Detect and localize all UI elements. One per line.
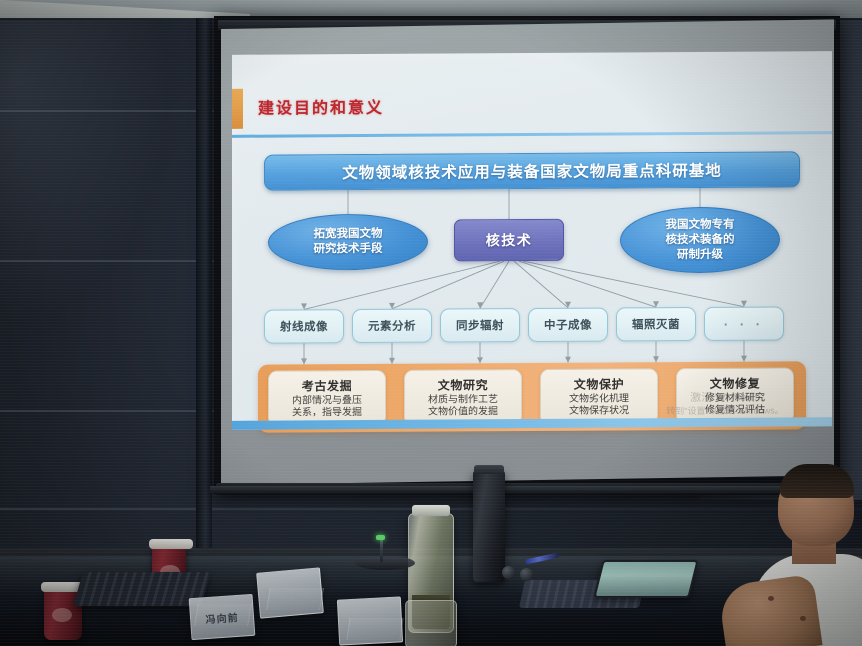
application-title: 考古发掘 [302, 377, 352, 394]
technique-label: 射线成像 [280, 318, 328, 334]
skin-mark [800, 616, 806, 621]
application-line1: 内部情况与叠压 [292, 395, 362, 408]
application-title: 文物研究 [438, 376, 488, 393]
diagram-node-right-line1: 我国文物专有 [666, 217, 735, 232]
diagram-root-node: 文物领域核技术应用与装备国家文物局重点科研基地 [264, 151, 800, 190]
windows-activation-watermark: 激活 Windows 转到"设置"以激活 Windows。 [630, 391, 820, 418]
technique-node-more: · · · [704, 306, 784, 340]
microphone-base [355, 556, 415, 570]
person-hair [780, 464, 854, 498]
attendee-person [752, 468, 862, 646]
name-card-label: 冯向前 [205, 608, 239, 625]
diagram-node-center-label: 核技术 [486, 230, 533, 250]
diagram-root-label: 文物领域核技术应用与装备国家文物局重点科研基地 [342, 159, 722, 183]
technique-node-irradiation: 辐照灭菌 [616, 307, 696, 341]
cup-logo [52, 608, 72, 622]
watermark-line1: 激活 Windows [630, 391, 820, 405]
jar-cap [412, 505, 450, 516]
cup-lid [149, 539, 193, 549]
knob[interactable] [520, 568, 533, 581]
tablet-device[interactable] [593, 560, 698, 598]
microphone-led-indicator [376, 535, 385, 540]
slide-title: 建设目的和意义 [258, 94, 384, 119]
thermos-lid [474, 465, 504, 474]
wall-column-left [196, 18, 212, 578]
application-line1: 文物劣化机理 [569, 393, 629, 406]
diagram-node-right-line2: 核技术装备的 [666, 232, 735, 247]
application-line2: 关系，指导发掘 [292, 407, 362, 420]
name-card [256, 567, 324, 618]
microphone-arm [380, 540, 383, 562]
diagram-node-right: 我国文物专有 核技术装备的 研制升级 [620, 206, 780, 273]
application-line2: 文物保存状况 [569, 405, 629, 418]
application-node-research: 文物研究 材质与制作工艺 文物价值的发掘 [404, 369, 522, 426]
glass-tea-jar-base [405, 600, 457, 646]
projector-screen-surface: 建设目的和意义 [221, 19, 834, 485]
technique-node-synchrotron: 同步辐射 [440, 308, 520, 342]
diagram-node-right-line3: 研制升级 [677, 247, 723, 262]
ellipsis-icon: · · · [724, 316, 764, 331]
technique-label: 同步辐射 [456, 317, 504, 333]
skin-mark [768, 596, 774, 601]
wall-light-glow [0, 20, 170, 320]
diagram-node-left-line1: 拓宽我国文物 [314, 227, 383, 242]
technique-node-element: 元素分析 [352, 309, 432, 343]
slide-title-rule [232, 131, 832, 138]
application-node-archaeology: 考古发掘 内部情况与叠压 关系，指导发掘 [268, 370, 386, 427]
application-title: 文物修复 [710, 374, 760, 391]
conference-room-scene: 建设目的和意义 [0, 0, 862, 646]
name-card [337, 596, 403, 645]
slide-accent-bar [232, 89, 243, 129]
diagram-node-center: 核技术 [454, 219, 564, 262]
application-line1: 材质与制作工艺 [428, 394, 498, 407]
projector-screen-roller [210, 486, 844, 493]
black-thermos [473, 470, 505, 582]
application-line2: 文物价值的发掘 [428, 406, 498, 419]
name-card: 冯向前 [189, 594, 256, 640]
watermark-line2: 转到"设置"以激活 Windows。 [630, 404, 820, 418]
technique-node-xray: 射线成像 [264, 309, 344, 343]
knob[interactable] [502, 566, 515, 579]
presentation-slide: 建设目的和意义 [232, 51, 832, 430]
technique-label: 辐照灭菌 [632, 316, 680, 332]
diagram-node-left-line2: 研究技术手段 [314, 242, 383, 257]
technique-label: 中子成像 [544, 317, 592, 333]
diagram-node-left: 拓宽我国文物 研究技术手段 [268, 214, 428, 271]
technique-label: 元素分析 [368, 318, 416, 334]
application-title: 文物保护 [574, 375, 624, 392]
technique-node-neutron: 中子成像 [528, 308, 608, 342]
